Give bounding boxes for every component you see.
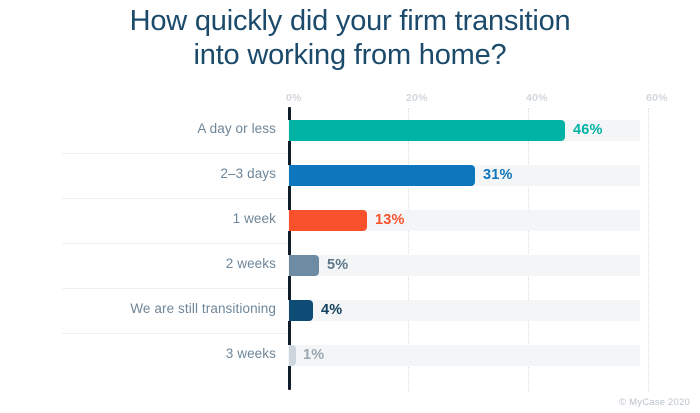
bar-category-label: 2–3 days (0, 166, 276, 181)
bar-segment (289, 300, 313, 321)
x-tick-2: 40% (526, 92, 548, 104)
row-divider (62, 153, 288, 154)
bar-value-label: 1% (303, 345, 324, 366)
x-tick-3: 60% (646, 92, 668, 104)
row-divider (62, 243, 288, 244)
bar-segment (289, 210, 367, 231)
bar-row: A day or less 46% (0, 108, 700, 153)
bar-segment (289, 255, 319, 276)
bar-row: 1 week 13% (0, 198, 700, 243)
bar-value-label: 13% (375, 210, 405, 231)
bar-value-label: 31% (483, 165, 513, 186)
bar-category-label: A day or less (0, 121, 276, 136)
bar-value-label: 4% (321, 300, 342, 321)
row-divider (62, 333, 288, 334)
bar-category-label: 3 weeks (0, 346, 276, 361)
bar-category-label: 1 week (0, 211, 276, 226)
x-tick-1: 20% (406, 92, 428, 104)
row-divider (62, 198, 288, 199)
row-divider (62, 288, 288, 289)
bar-segment (289, 120, 565, 141)
bar-segment (289, 165, 475, 186)
bar-track (288, 345, 640, 366)
bar-row: 2 weeks 5% (0, 243, 700, 288)
bar-category-label: We are still transitioning (0, 301, 276, 316)
x-tick-0: 0% (286, 92, 302, 104)
bar-rows: A day or less 46% 2–3 days 31% 1 week 13… (0, 108, 700, 378)
page-title: How quickly did your firm transition int… (0, 4, 700, 72)
bar-chart: 0% 20% 40% 60% A day or less 46% 2–3 day… (0, 92, 700, 392)
bar-segment (289, 345, 296, 366)
bar-value-label: 46% (573, 120, 603, 141)
bar-category-label: 2 weeks (0, 256, 276, 271)
copyright-credit: © MyCase 2020 (619, 397, 690, 408)
bar-row: 2–3 days 31% (0, 153, 700, 198)
bar-value-label: 5% (327, 255, 348, 276)
bar-row: 3 weeks 1% (0, 333, 700, 378)
bar-row: We are still transitioning 4% (0, 288, 700, 333)
